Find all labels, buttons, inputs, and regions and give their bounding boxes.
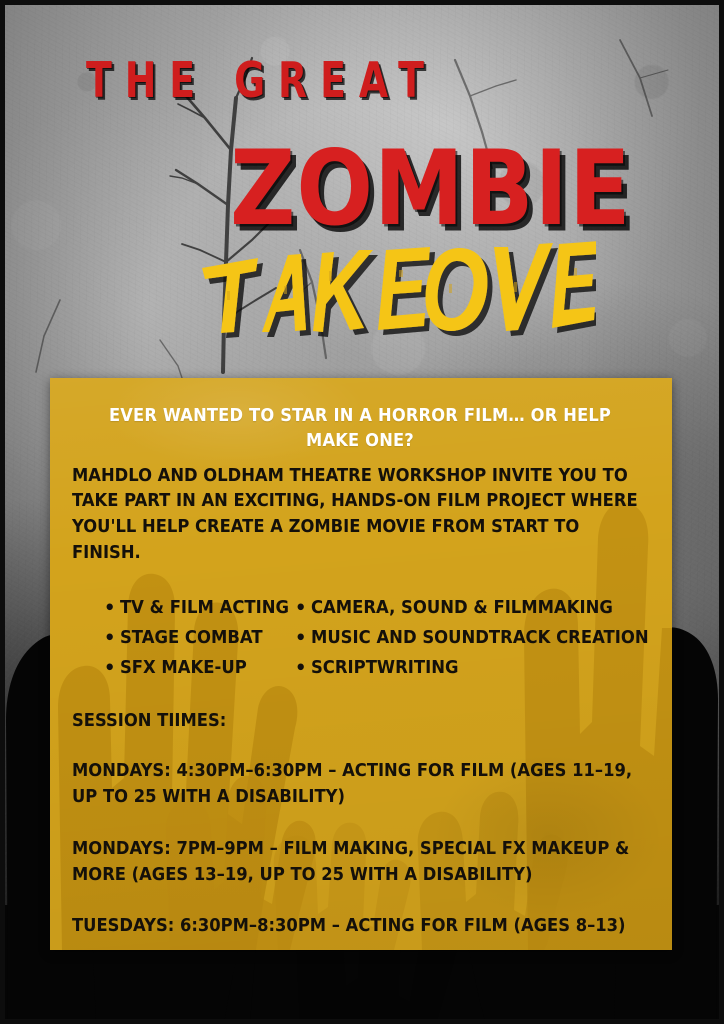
title-the-great: THE GREAT — [86, 52, 437, 109]
panel-body-paragraph: MAHDLO AND OLDHAM THEATRE WORKSHOP INVIT… — [72, 464, 648, 567]
poster: THE GREAT ZOMBIE — [0, 0, 724, 1024]
session-times-block: SESSION TIIMES: MONDAYS: 4:30PM–6:30PM –… — [72, 709, 648, 940]
bullet-column-left: TV & FILM ACTING STAGE COMBAT SFX MAKE-U… — [72, 593, 295, 683]
activities-bullet-lists: TV & FILM ACTING STAGE COMBAT SFX MAKE-U… — [72, 593, 649, 683]
list-item: MUSIC AND SOUNDTRACK CREATION — [295, 623, 649, 653]
panel-headline: EVER WANTED TO STAR IN A HORROR FILM… OR… — [92, 404, 628, 454]
title-takeover — [196, 236, 596, 346]
session-line: MONDAYS: 4:30PM–6:30PM – ACTING FOR FILM… — [72, 759, 648, 810]
list-item: SCRIPTWRITING — [295, 653, 649, 683]
list-item: CAMERA, SOUND & FILMMAKING — [295, 593, 649, 623]
bullet-column-right: CAMERA, SOUND & FILMMAKING MUSIC AND SOU… — [295, 593, 649, 683]
list-item: SFX MAKE-UP — [104, 653, 295, 683]
session-line: MONDAYS: 7PM–9PM – FILM MAKING, SPECIAL … — [72, 837, 648, 888]
title-zombie: ZOMBIE — [230, 128, 632, 249]
session-times-heading: SESSION TIIMES: — [72, 709, 648, 734]
content-panel: EVER WANTED TO STAR IN A HORROR FILM… OR… — [50, 378, 672, 950]
list-item: STAGE COMBAT — [104, 623, 295, 653]
list-item: TV & FILM ACTING — [104, 593, 295, 623]
session-line: TUESDAYS: 6:30PM–8:30PM – ACTING FOR FIL… — [72, 914, 648, 940]
